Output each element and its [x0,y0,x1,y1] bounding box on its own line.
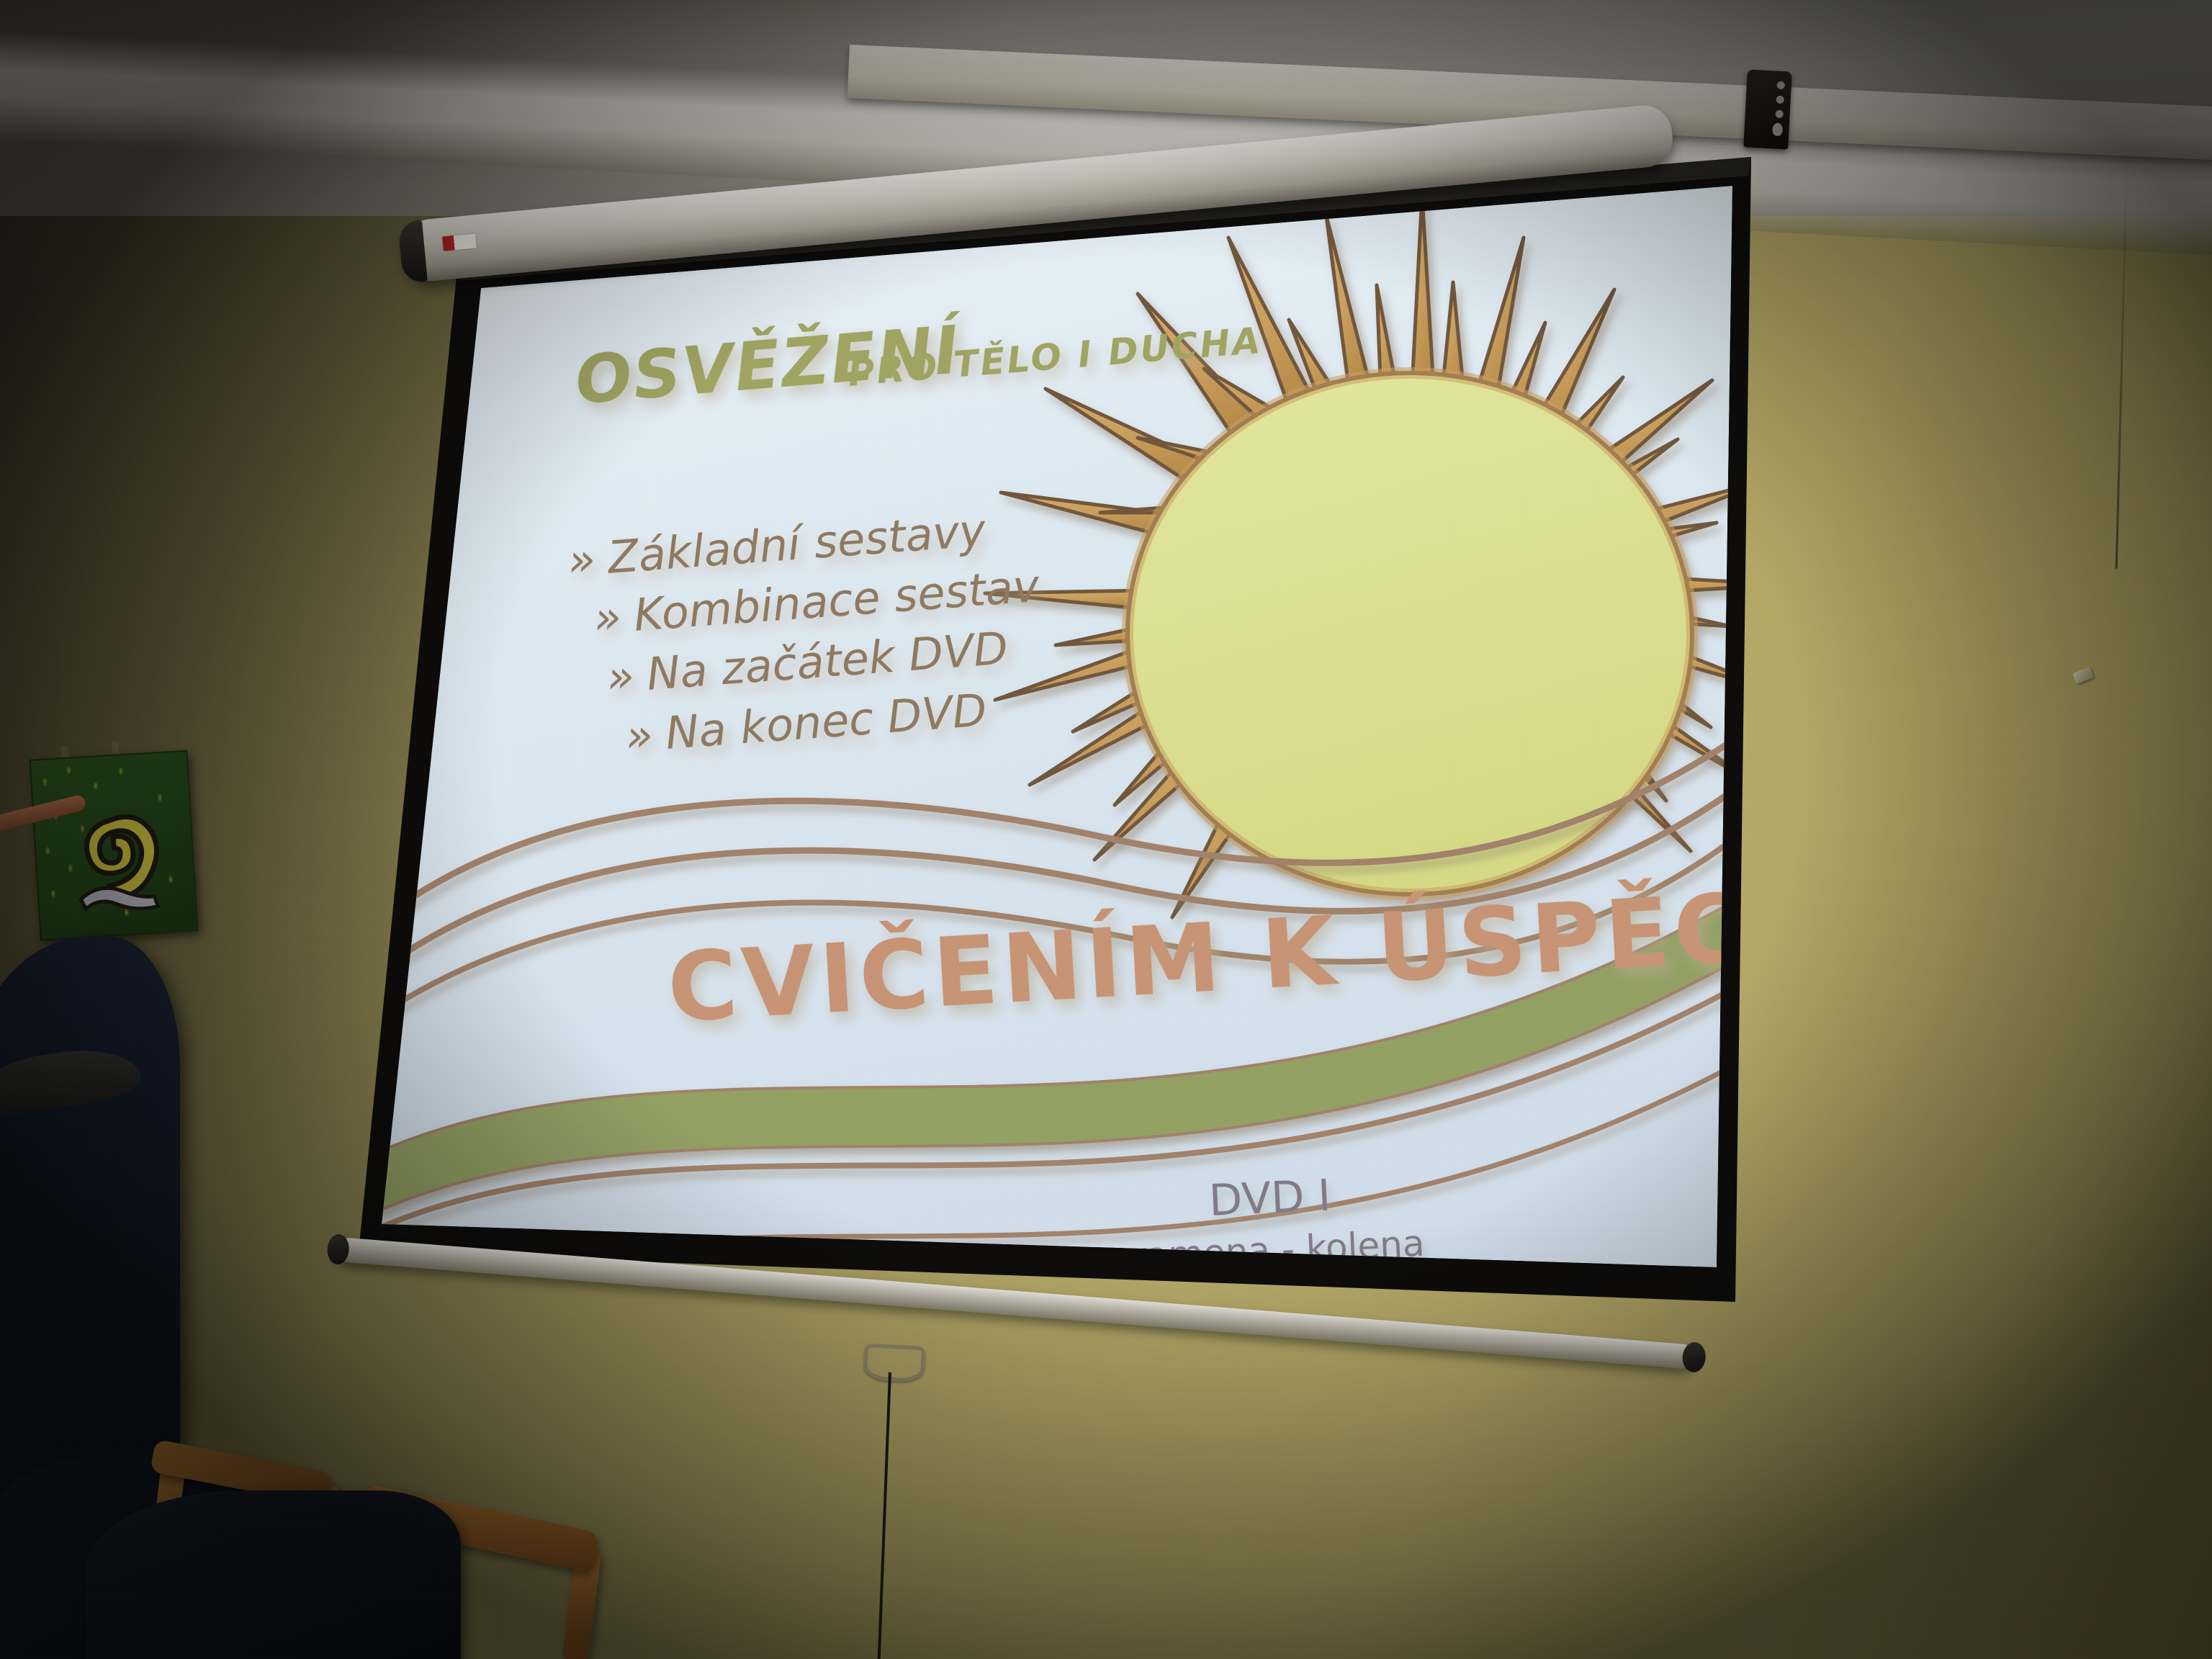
screen-sheen [382,186,1732,1267]
brand-label [442,233,477,251]
photo-scene: OSVĚŽENÍ PRO TĚLO I DUCHA » Základní ses… [0,0,2212,1659]
screen-pull-handle[interactable] [863,1344,926,1382]
projection-screen: OSVĚŽENÍ PRO TĚLO I DUCHA » Základní ses… [0,0,2212,1659]
